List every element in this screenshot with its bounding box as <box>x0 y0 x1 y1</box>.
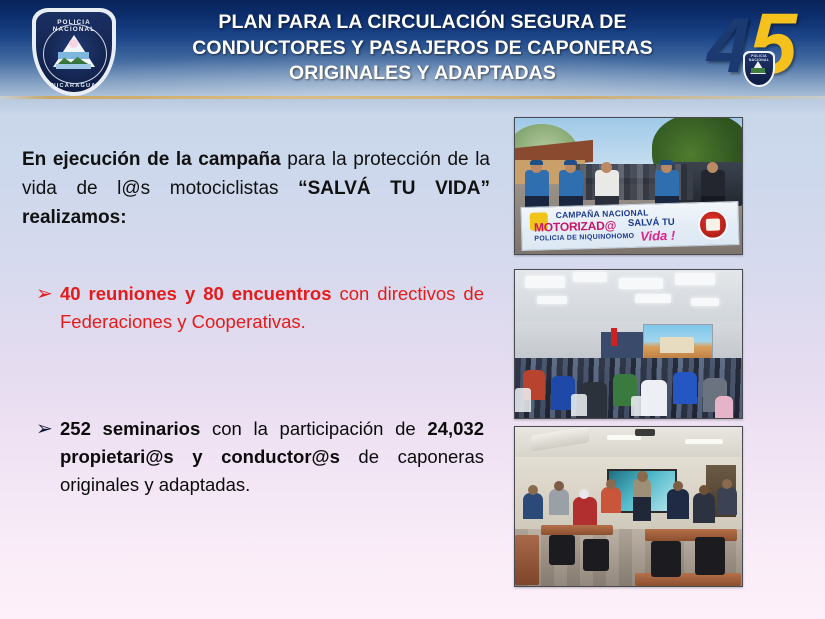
photo3-attendee-head <box>673 481 683 491</box>
photo3-chair <box>695 537 725 575</box>
list-item: ➢ 40 reuniones y 80 encuentros con direc… <box>36 280 484 336</box>
photo3-projector-icon <box>635 429 655 436</box>
photo3-attendee-cap-icon <box>579 489 589 499</box>
emblem-water <box>56 64 91 69</box>
badge-bottom-text: NICARAGUA <box>38 83 110 89</box>
photo1-banner-line2: MOTORIZAD@ <box>534 218 617 234</box>
photo1-banner-seal-inner <box>706 218 720 230</box>
photo2-projection-screen <box>643 324 713 362</box>
photo3-table <box>541 525 613 535</box>
photo2-flag <box>611 328 617 346</box>
photo2-screen-image <box>660 337 694 353</box>
anniversary-logo: 4 5 POLICIA NACIONAL <box>707 4 811 96</box>
bullet-2-text: 252 seminarios con la participación de 2… <box>60 415 484 499</box>
photo2-light-panel <box>537 296 567 304</box>
photo2-chair <box>515 388 531 412</box>
photo1-civilian-head <box>601 162 612 173</box>
photo1-officer-head <box>707 162 718 173</box>
photo3-attendee <box>717 487 737 515</box>
photo2-light-panel <box>675 273 715 285</box>
emblem-sky <box>58 52 89 59</box>
photo3-ceiling-lamp <box>685 439 723 444</box>
photo1-banner-vida: Vida ! <box>640 228 675 244</box>
photo-auditorium-assembly <box>514 269 743 419</box>
photo-campaign-banner-street: CAMPAÑA NACIONAL MOTORIZAD@ SALVÁ TU Vid… <box>514 117 743 255</box>
photo3-attendee <box>667 489 689 519</box>
bullet-arrow-icon: ➢ <box>36 280 60 308</box>
photo1-officer-cap-icon <box>564 160 577 165</box>
photo2-chair <box>631 396 647 416</box>
bullet-1-text: 40 reuniones y 80 encuentros con directi… <box>60 280 484 336</box>
police-badge-icon: POLICIA NACIONAL NICARAGUA <box>32 8 116 96</box>
list-item: ➢ 252 seminarios con la participación de… <box>36 415 484 499</box>
mini-police-badge-icon: POLICIA NACIONAL <box>743 51 775 87</box>
intro-paragraph: En ejecución de la campaña para la prote… <box>22 145 490 232</box>
photo3-attendee-head <box>528 485 538 495</box>
photo1-officer-cap-icon <box>530 160 543 165</box>
photo3-attendee <box>523 493 543 519</box>
photo2-chair <box>571 394 587 416</box>
page-title: PLAN PARA LA CIRCULACIÓN SEGURA DE CONDU… <box>150 10 695 87</box>
photo3-attendee-head <box>554 481 564 491</box>
photo2-light-panel <box>619 278 663 289</box>
mini-mountains <box>751 68 765 73</box>
header-fade <box>0 99 825 115</box>
badge-top-text: POLICIA NACIONAL <box>38 19 110 33</box>
photo3-attendee <box>693 493 715 523</box>
bullet-arrow-icon: ➢ <box>36 415 60 443</box>
photo3-attendee <box>601 487 621 513</box>
photo2-light-panel <box>691 298 719 306</box>
photo1-banner-seal-icon <box>698 209 729 240</box>
photo-classroom-seminar <box>514 426 743 587</box>
photo3-presenter <box>633 479 651 521</box>
bullet-2-normal-1: con la participación de <box>200 418 427 439</box>
photo2-light-panel <box>573 272 607 282</box>
photo3-attendee-head <box>699 485 709 495</box>
photo1-campaign-banner: CAMPAÑA NACIONAL MOTORIZAD@ SALVÁ TU Vid… <box>520 201 739 251</box>
photo3-chair <box>583 539 609 571</box>
photo2-attendee <box>673 372 697 404</box>
photo3-chair <box>651 541 681 577</box>
slide-root: PLAN PARA LA CIRCULACIÓN SEGURA DE CONDU… <box>0 0 825 619</box>
emblem-liberty-cap-icon <box>69 39 78 48</box>
photo3-attendee-head <box>606 479 616 489</box>
photo3-presenter-head <box>637 471 648 482</box>
intro-bold-1: En ejecución de la campaña <box>22 149 281 170</box>
photo3-table <box>515 535 539 585</box>
photo1-officer-cap-icon <box>660 160 673 165</box>
photo3-attendee <box>549 489 569 515</box>
photo3-chair <box>549 535 575 565</box>
photo2-light-panel <box>635 294 671 303</box>
photo2-light-panel <box>525 276 565 288</box>
photo3-attendee-head <box>722 479 732 489</box>
photo1-banner-line3: POLICIA DE NIQUINOHOMO <box>534 233 634 243</box>
bullet-2-bold-1: 252 seminarios <box>60 418 200 439</box>
bullet-1-bold: 40 reuniones y 80 encuentros <box>60 283 332 304</box>
photo3-attendee <box>573 497 597 527</box>
photo2-child <box>715 396 733 418</box>
